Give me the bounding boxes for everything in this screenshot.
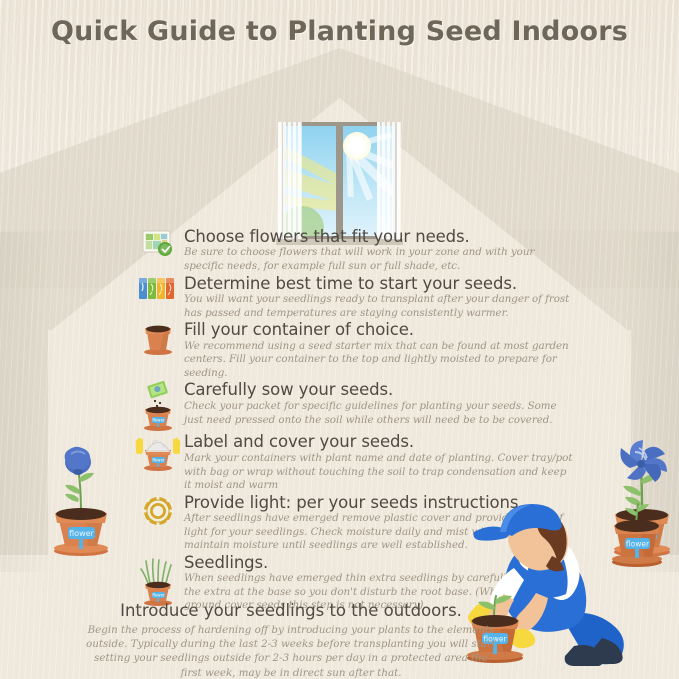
page-title: Quick Guide to Planting Seed Indoors: [0, 16, 679, 47]
seedlings-in-pot-icon: flower: [132, 554, 184, 607]
svg-text:flower: flower: [152, 592, 165, 597]
empty-pot-with-soil-icon: [132, 321, 184, 356]
potted-blue-flower-left: flower: [38, 420, 124, 560]
list-item: flower Label and cover your seeds. Mark …: [132, 433, 576, 492]
step-description: Check your packet for specific guideline…: [184, 400, 576, 427]
curtain-right: [377, 122, 401, 240]
step-description: We recommend using a seed starter mix th…: [184, 340, 576, 381]
list-item: flower Carefully sow your seeds. Check y…: [132, 381, 576, 432]
step-description: You will want your seedlings ready to tr…: [184, 293, 576, 320]
seed-packets-row-icon: [132, 275, 184, 302]
list-item: Fill your container of choice. We recomm…: [132, 321, 576, 380]
curtain-left: [278, 122, 302, 240]
footer-heading: Introduce your seedlings to the outdoors…: [86, 602, 496, 621]
svg-text:flower: flower: [152, 418, 165, 423]
list-item: Choose flowers that fit your needs. Be s…: [132, 228, 576, 274]
footer-block: Introduce your seedlings to the outdoors…: [86, 602, 496, 679]
step-heading: Choose flowers that fit your needs.: [184, 228, 576, 246]
step-heading: Determine best time to start your seeds.: [184, 275, 576, 293]
seed-packet-zone-map-icon: [132, 228, 184, 259]
step-description: Be sure to choose flowers that will work…: [184, 246, 576, 273]
sowing-seeds-packet-icon: flower: [132, 381, 184, 432]
sunlit-window: [282, 122, 397, 240]
flower-head: [620, 440, 667, 482]
step-description: Mark your containers with plant name and…: [184, 452, 576, 493]
flower-head: [65, 447, 91, 475]
pot-label-text: flower: [69, 529, 94, 538]
sun-icon: [343, 132, 371, 160]
step-heading: Fill your container of choice.: [184, 321, 576, 339]
footer-description: Begin the process of hardening off by in…: [86, 623, 496, 679]
step-heading: Label and cover your seeds.: [184, 433, 576, 451]
step-heading: Carefully sow your seeds.: [184, 381, 576, 399]
gloves-covered-pot-icon: flower: [132, 433, 184, 472]
svg-text:flower: flower: [152, 458, 165, 463]
grow-light-icon: [132, 494, 184, 527]
infographic-canvas: Quick Guide to Planting Seed Indoors: [0, 0, 679, 679]
list-item: Determine best time to start your seeds.…: [132, 275, 576, 321]
